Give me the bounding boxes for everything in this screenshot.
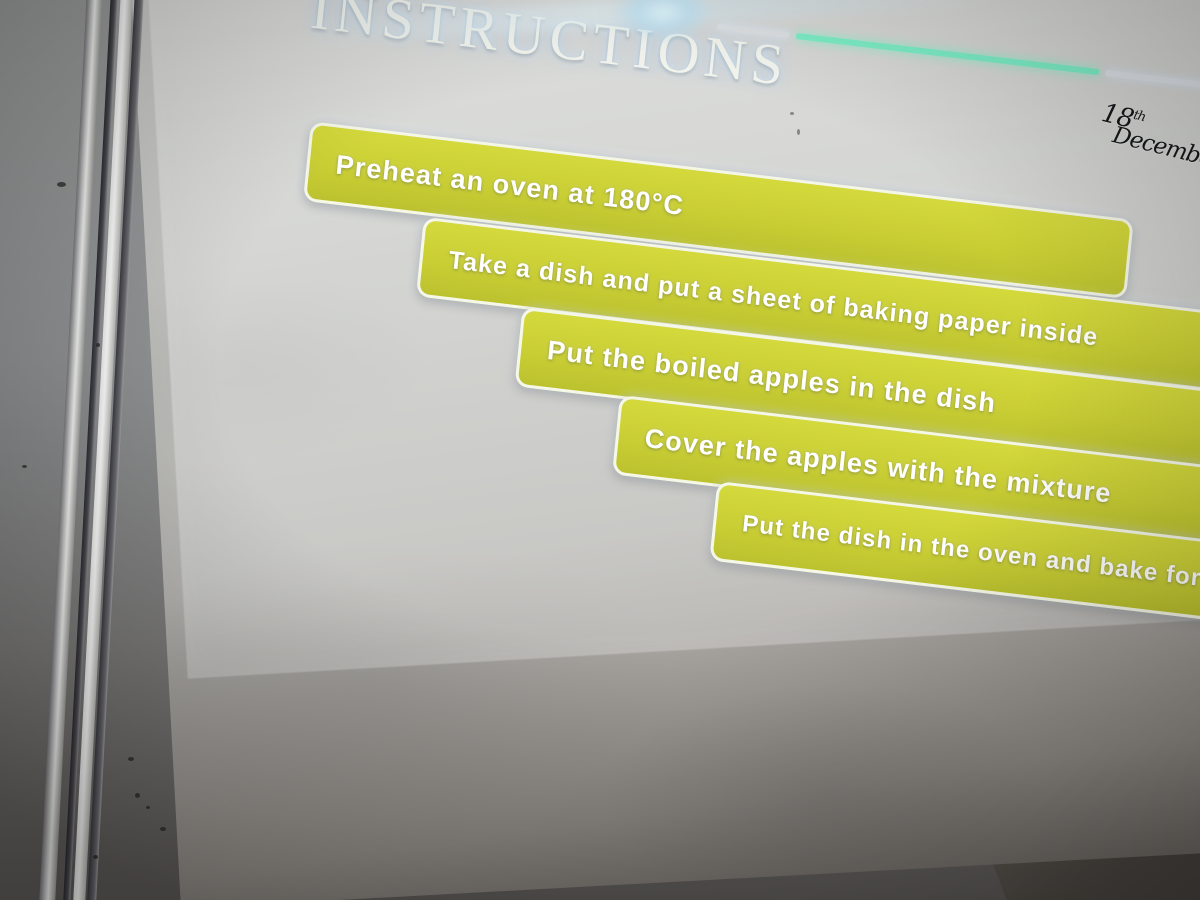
dust-speck <box>135 793 140 798</box>
dust-speck <box>128 757 134 761</box>
dust-speck <box>22 465 27 468</box>
dust-speck <box>160 827 166 831</box>
dust-speck <box>96 343 100 347</box>
divider-segment-accent <box>796 33 1099 75</box>
title-divider <box>717 23 1200 92</box>
classroom-photo: INSTRUCTIONS Preheat an oven at 180°C Ta… <box>0 0 1200 900</box>
instruction-step-1-label: Preheat an oven at 180°C <box>308 146 685 221</box>
dust-speck <box>93 855 98 859</box>
divider-segment-right <box>1106 70 1200 91</box>
dust-speck <box>146 806 150 809</box>
projector-light-glare <box>598 0 728 52</box>
presentation-slide: INSTRUCTIONS Preheat an oven at 180°C Ta… <box>196 0 1200 627</box>
dust-speck <box>57 182 66 187</box>
